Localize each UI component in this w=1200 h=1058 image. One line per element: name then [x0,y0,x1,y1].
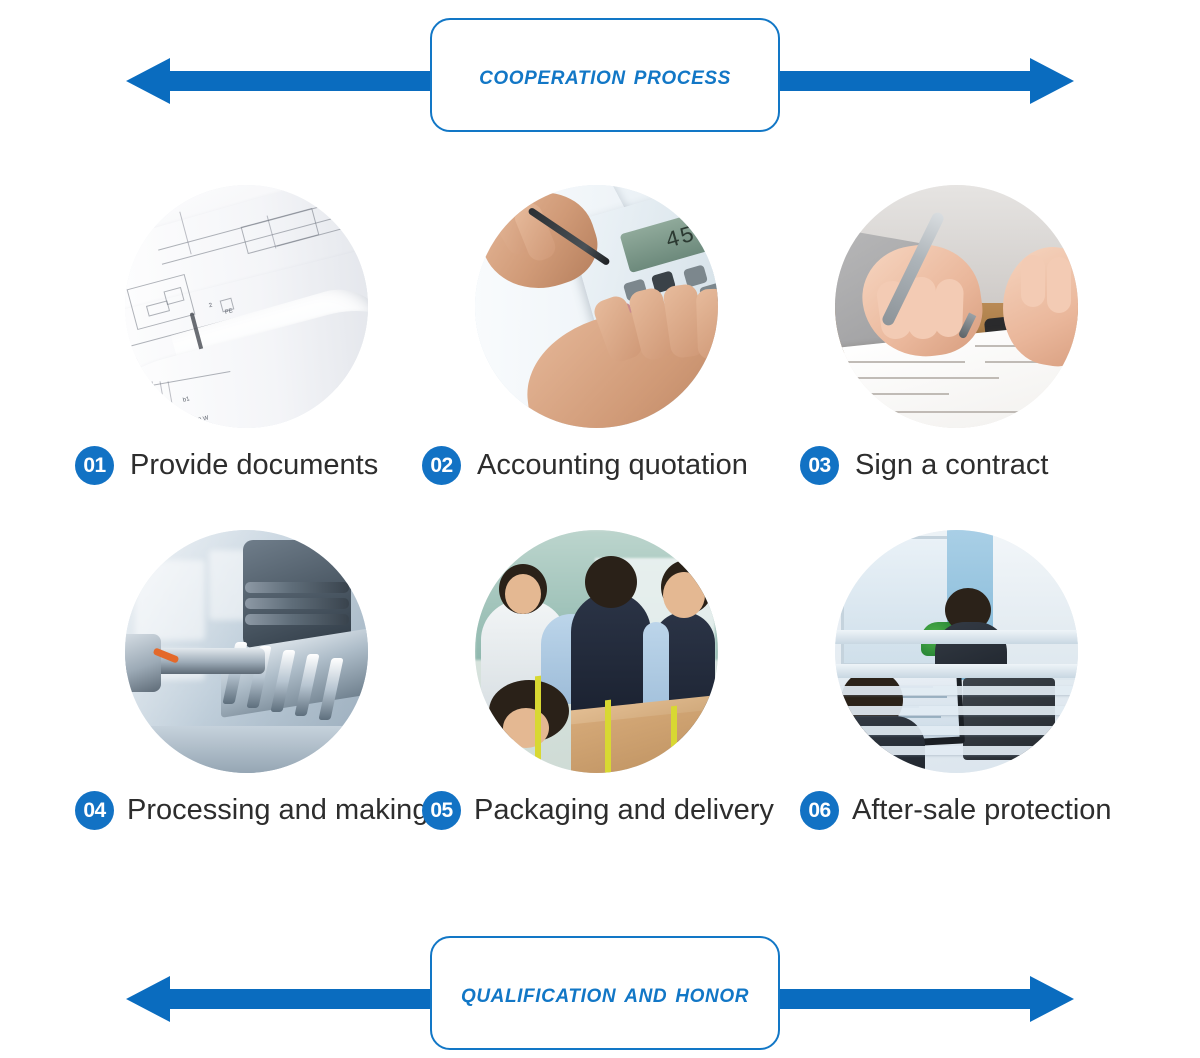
bottom-banner-box: Qualification and honor [430,936,780,1050]
step-card-01[interactable]: PE 2 60 W b1 01 Provide documents [5,185,405,530]
step-number-badge-06: 06 [800,791,839,830]
step-caption-05: 05 Packaging and delivery [422,788,802,832]
step-image-06 [835,530,1078,773]
calculator-hands-image: 4546 [475,185,718,428]
step-label-03: Sign a contract [855,449,1048,482]
steps-row-1: PE 2 60 W b1 01 Provide documents [0,185,1200,530]
step-number-badge-01: 01 [75,446,114,485]
step-image-03 [835,185,1078,428]
step-label-04: Processing and making [127,794,428,827]
step-card-04[interactable]: 04 Processing and making [5,530,405,875]
step-image-02: 4546 [475,185,718,428]
arrow-left-icon [126,58,170,104]
top-banner-title: Cooperation process [479,60,731,91]
top-banner-box: Cooperation process [430,18,780,132]
bottom-banner: Qualification and honor [0,928,1200,1058]
step-card-03[interactable]: 03 Sign a contract [790,185,1190,530]
step-caption-06: 06 After-sale protection [800,788,1190,832]
bottom-banner-title: Qualification and honor [461,978,749,1009]
step-number-badge-02: 02 [422,446,461,485]
step-caption-03: 03 Sign a contract [800,443,1190,487]
top-banner: Cooperation process [0,10,1200,140]
cnc-machining-image [125,530,368,773]
step-caption-01: 01 Provide documents [75,443,415,487]
step-caption-02: 02 Accounting quotation [422,443,802,487]
step-image-04 [125,530,368,773]
step-label-05: Packaging and delivery [474,794,774,827]
arrow-right-icon [1030,58,1074,104]
step-card-06[interactable]: 06 After-sale protection [790,530,1190,875]
steps-grid: PE 2 60 W b1 01 Provide documents [0,185,1200,875]
step-image-05 [475,530,718,773]
step-label-06: After-sale protection [852,794,1112,827]
step-image-01: PE 2 60 W b1 [125,185,368,428]
step-caption-04: 04 Processing and making [75,788,415,832]
step-number-badge-04: 04 [75,791,114,830]
blueprint-rolls-image: PE 2 60 W b1 [125,185,368,428]
step-number-badge-03: 03 [800,446,839,485]
step-number-badge-05: 05 [422,791,461,830]
steps-row-2: 04 Processing and making [0,530,1200,875]
contract-signing-image [835,185,1078,428]
office-support-image [835,530,1078,773]
step-card-05[interactable]: 05 Packaging and delivery [400,530,800,875]
step-label-02: Accounting quotation [477,449,748,482]
packaging-workers-image [475,530,718,773]
step-card-02[interactable]: 4546 [400,185,800,530]
arrow-right-icon [1030,976,1074,1022]
step-label-01: Provide documents [130,449,378,482]
arrow-left-icon [126,976,170,1022]
